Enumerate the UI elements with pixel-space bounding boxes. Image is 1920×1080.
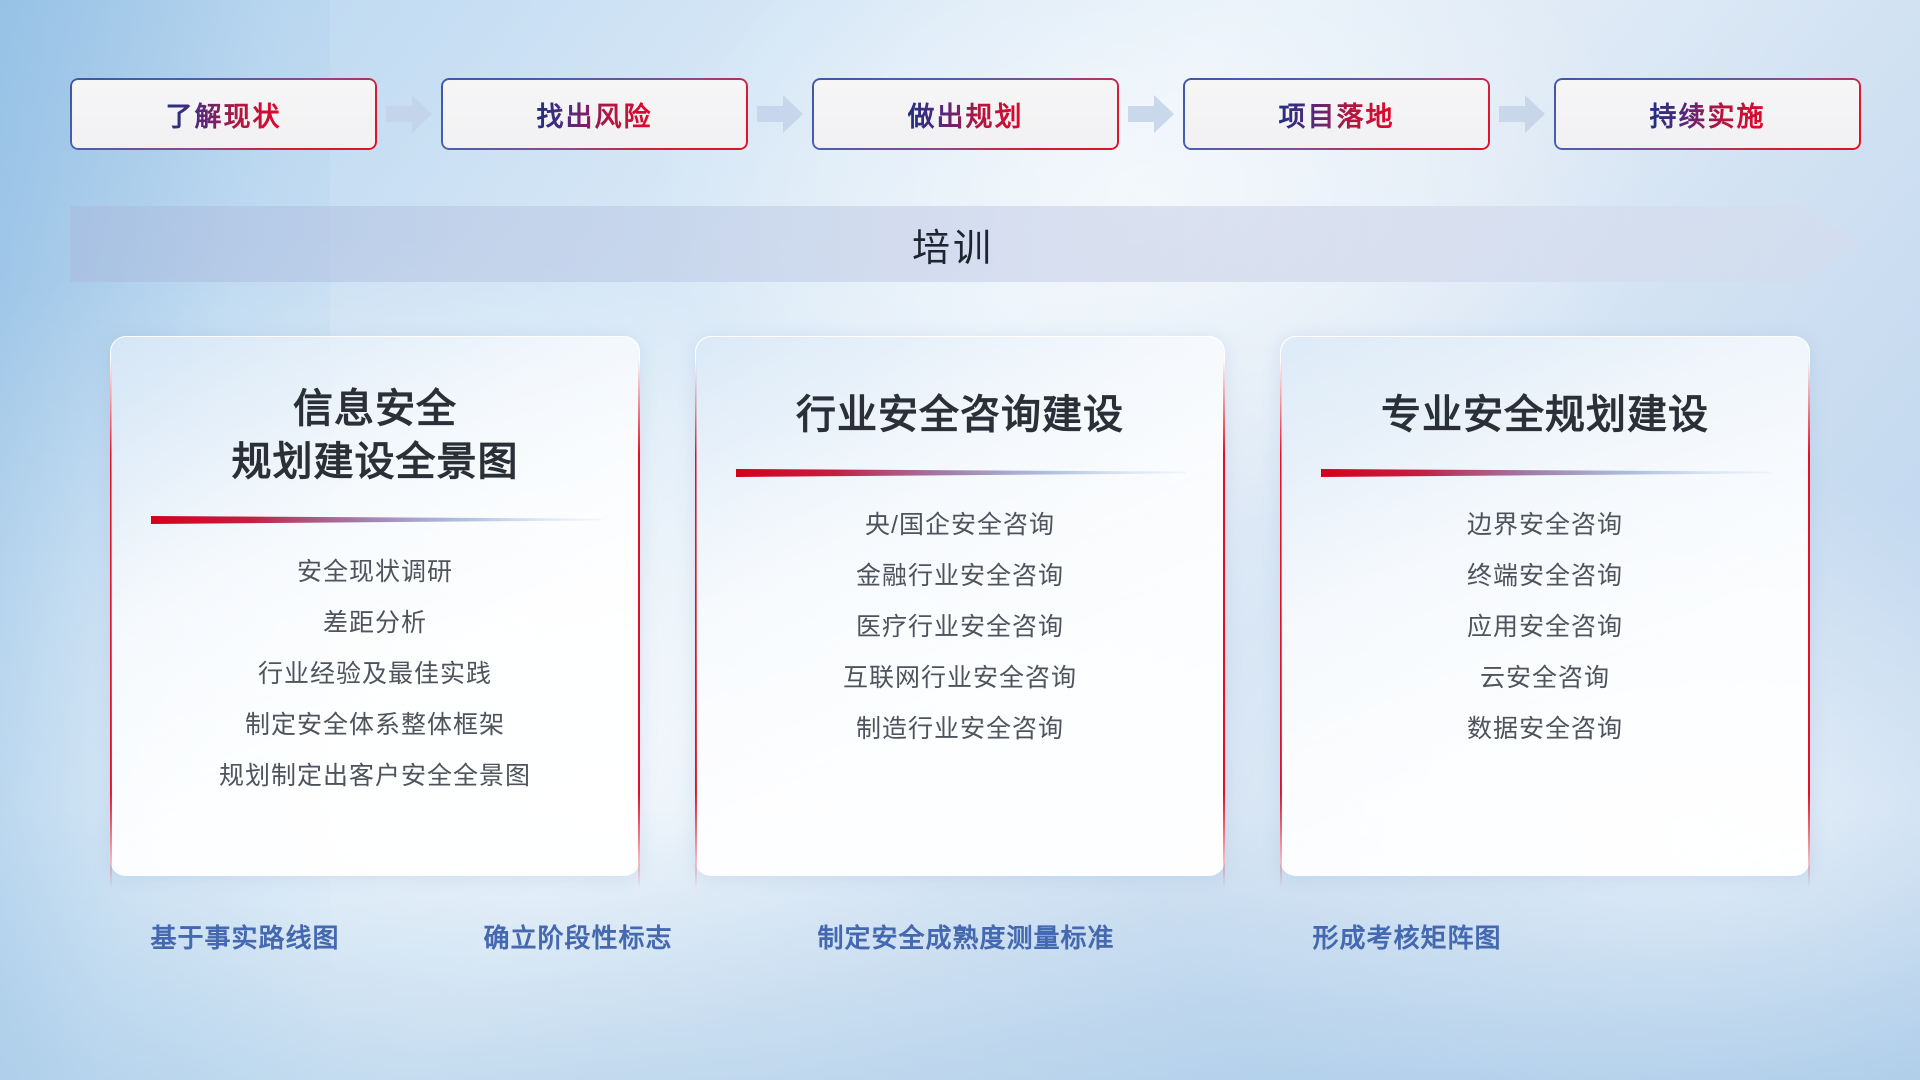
card-title-2: 行业安全咨询建设 <box>796 389 1124 442</box>
card-list-item: 规划制定出客户安全全景图 <box>111 751 639 802</box>
card-list-item: 医疗行业安全咨询 <box>696 602 1224 653</box>
card-title-1: 信息安全 规划建设全景图 <box>232 383 519 489</box>
bottom-label-3: 制定安全成熟度测量标准 <box>817 918 1114 955</box>
service-card-1[interactable]: 信息安全 规划建设全景图 安全现状调研 差距分析 行业经验及最佳实践 <box>110 336 640 876</box>
step-box-2[interactable]: 找出风险 <box>441 78 748 150</box>
step-label-3: 做出规划 <box>908 95 1024 134</box>
card-list-1: 安全现状调研 差距分析 行业经验及最佳实践 制定安全体系整体框架 规划制定出客户… <box>111 547 639 802</box>
step-label-5: 持续实施 <box>1650 95 1766 134</box>
step-label-2: 找出风险 <box>537 95 653 134</box>
card-list-3: 边界安全咨询 终端安全咨询 应用安全咨询 云安全咨询 数据安全咨询 <box>1281 500 1809 755</box>
card-list-item: 数据安全咨询 <box>1281 704 1809 755</box>
step-label-4: 项目落地 <box>1279 95 1395 134</box>
step-arrow-icon-1 <box>377 92 441 136</box>
training-banner: 培训 <box>70 200 1860 288</box>
step-arrow-icon-2 <box>748 92 812 136</box>
service-cards-row: 信息安全 规划建设全景图 安全现状调研 差距分析 行业经验及最佳实践 <box>110 336 1810 876</box>
card-list-item: 央/国企安全咨询 <box>696 500 1224 551</box>
card-divider-3 <box>1319 466 1771 480</box>
card-divider-2 <box>734 466 1186 480</box>
card-list-2: 央/国企安全咨询 金融行业安全咨询 医疗行业安全咨询 互联网行业安全咨询 制造行… <box>696 500 1224 755</box>
card-list-item: 制定安全体系整体框架 <box>111 700 639 751</box>
step-arrow-icon-3 <box>1119 92 1183 136</box>
step-box-3[interactable]: 做出规划 <box>812 78 1119 150</box>
card-list-item: 终端安全咨询 <box>1281 551 1809 602</box>
step-box-1[interactable]: 了解现状 <box>70 78 377 150</box>
bottom-label-1: 基于事实路线图 <box>150 918 339 955</box>
card-list-item: 行业经验及最佳实践 <box>111 649 639 700</box>
training-banner-label: 培训 <box>70 200 1860 288</box>
bottom-caption-row: 基于事实路线图 确立阶段性标志 制定安全成熟度测量标准 形成考核矩阵图 <box>0 918 1920 962</box>
card-list-item: 互联网行业安全咨询 <box>696 653 1224 704</box>
card-list-item: 云安全咨询 <box>1281 653 1809 704</box>
service-card-2[interactable]: 行业安全咨询建设 央/国企安全咨询 金融行业安全咨询 医疗行业安全咨询 <box>695 336 1225 876</box>
card-list-item: 金融行业安全咨询 <box>696 551 1224 602</box>
card-divider-1 <box>149 513 601 527</box>
step-box-5[interactable]: 持续实施 <box>1554 78 1861 150</box>
bottom-label-2: 确立阶段性标志 <box>483 918 672 955</box>
service-card-3[interactable]: 专业安全规划建设 边界安全咨询 终端安全咨询 应用安全咨询 云安全 <box>1280 336 1810 876</box>
card-list-item: 应用安全咨询 <box>1281 602 1809 653</box>
card-list-item: 差距分析 <box>111 598 639 649</box>
card-list-item: 边界安全咨询 <box>1281 500 1809 551</box>
card-title-3: 专业安全规划建设 <box>1381 389 1709 442</box>
step-box-4[interactable]: 项目落地 <box>1183 78 1490 150</box>
bottom-label-4: 形成考核矩阵图 <box>1312 918 1501 955</box>
step-label-1: 了解现状 <box>166 95 282 134</box>
step-arrow-icon-4 <box>1490 92 1554 136</box>
process-step-row: 了解现状 找出风险 做出规划 项目落地 持续实施 <box>70 78 1860 150</box>
card-list-item: 安全现状调研 <box>111 547 639 598</box>
card-list-item: 制造行业安全咨询 <box>696 704 1224 755</box>
